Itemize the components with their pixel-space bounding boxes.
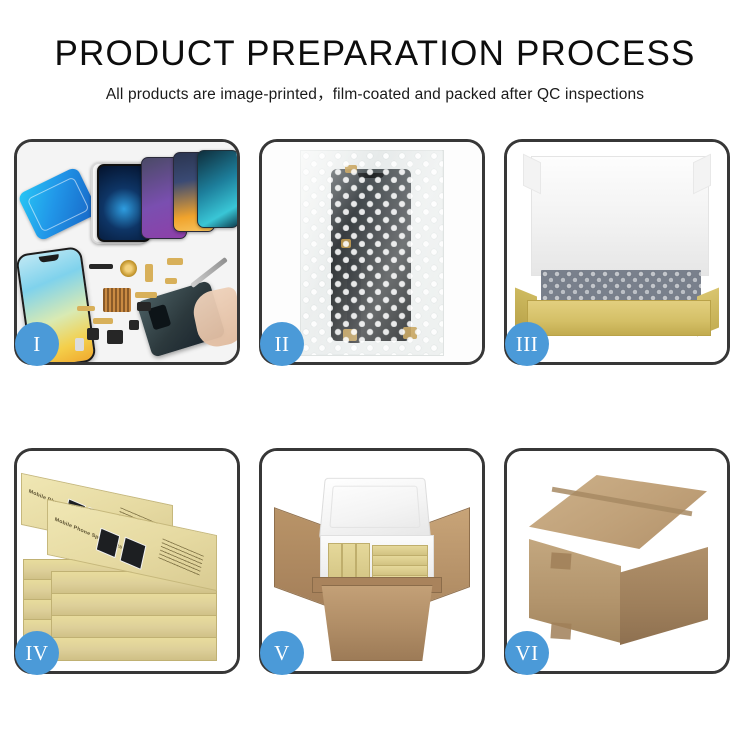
spare-part <box>167 258 183 265</box>
step-badge-4: IV <box>15 631 59 675</box>
carton-right-face <box>620 547 708 645</box>
carton-tape-upper <box>550 552 571 569</box>
spare-part <box>93 318 113 324</box>
step-panel-1[interactable]: I <box>14 139 240 365</box>
box-window-image <box>96 528 121 559</box>
kraft-box-front <box>527 300 711 336</box>
step-panel-3[interactable]: III <box>504 139 730 365</box>
step-badge-6: VI <box>505 631 549 675</box>
spare-part <box>75 338 84 351</box>
spare-part <box>77 306 95 311</box>
bubble-wrapped-contents <box>541 270 701 304</box>
stacked-box <box>51 637 217 661</box>
header: PRODUCT PREPARATION PROCESS All products… <box>0 0 750 104</box>
carton-tape-lower <box>550 622 571 639</box>
carton-left-face <box>529 539 621 643</box>
step-badge-1: I <box>15 322 59 366</box>
box-spec-lines <box>158 538 204 576</box>
page-subtitle: All products are image-printed，film-coat… <box>0 82 750 104</box>
spare-part <box>145 264 153 282</box>
spare-part <box>107 330 123 344</box>
bubble-wrap-texture <box>301 151 443 355</box>
plastic-bag <box>300 150 444 356</box>
box-window-image <box>120 536 147 569</box>
cardboard-carton <box>314 585 440 661</box>
stacked-box <box>51 593 217 617</box>
foam-box-lid <box>319 478 431 540</box>
page-title: PRODUCT PREPARATION PROCESS <box>0 36 750 73</box>
teal-phone-screen <box>197 150 237 228</box>
spare-part <box>129 320 139 330</box>
spare-part <box>87 328 99 340</box>
spare-part <box>89 264 113 269</box>
step-panel-6[interactable]: VI <box>504 448 730 674</box>
connector-grid-chip <box>103 288 131 312</box>
step-panel-2[interactable]: II <box>259 139 485 365</box>
spare-part <box>137 302 151 311</box>
step-panel-5[interactable]: V <box>259 448 485 674</box>
copper-coil-part <box>120 260 137 277</box>
step-badge-3: III <box>505 322 549 366</box>
white-foam-lid <box>531 156 709 276</box>
spare-part <box>135 292 157 298</box>
stacked-box <box>51 615 217 639</box>
step-panel-4[interactable]: Mobile Phone Spare Parts Mobile Phone Sp… <box>14 448 240 674</box>
step-badge-5: V <box>260 631 304 675</box>
spare-part <box>165 278 177 284</box>
step-badge-2: II <box>260 322 304 366</box>
process-steps-grid: I II III <box>14 139 736 674</box>
blue-film-screen <box>17 166 99 242</box>
